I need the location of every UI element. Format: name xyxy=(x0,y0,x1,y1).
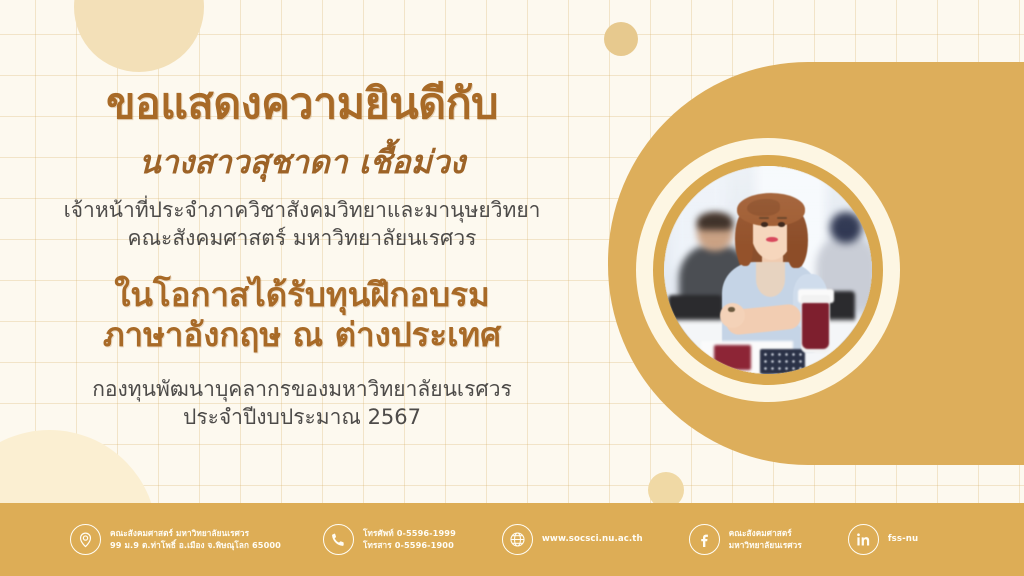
fund-line-1: กองทุนพัฒนาบุคลากรของมหาวิทยาลัยนเรศวร xyxy=(92,375,512,403)
footer-linkedin-text: fss-nu xyxy=(888,533,918,545)
award-line-1: ในโอกาสได้รับทุนฝึกอบรม xyxy=(103,275,501,315)
footer-phone-text: โทรศัพท์ 0-5596-1999 โทรสาร 0-5596-1900 xyxy=(363,528,456,552)
congratulations-banner: ขอแสดงความยินดีกับ นางสาวสุชาดา เชื้อม่ว… xyxy=(0,0,1024,576)
award-line-2: ภาษาอังกฤษ ณ ต่างประเทศ xyxy=(103,315,501,355)
footer-phone-line-1: โทรศัพท์ 0-5596-1999 xyxy=(363,528,456,538)
location-pin-icon xyxy=(70,524,101,555)
headline: ขอแสดงความยินดีกับ xyxy=(106,82,498,127)
footer-address-text: คณะสังคมศาสตร์ มหาวิทยาลัยนเรศวร 99 ม.9 … xyxy=(110,528,281,552)
message-block: ขอแสดงความยินดีกับ นางสาวสุชาดา เชื้อม่ว… xyxy=(0,0,604,503)
footer-address-line-2: 99 ม.9 ต.ท่าโพธิ์ อ.เมือง จ.พิษณุโลก 650… xyxy=(110,540,281,550)
footer-facebook-line-2: มหาวิทยาลัยนเรศวร xyxy=(729,540,802,550)
award-text: ในโอกาสได้รับทุนฝึกอบรม ภาษาอังกฤษ ณ ต่า… xyxy=(103,275,501,356)
footer-address: คณะสังคมศาสตร์ มหาวิทยาลัยนเรศวร 99 ม.9 … xyxy=(70,524,281,555)
phone-icon xyxy=(323,524,354,555)
fund-line-2: ประจำปีงบประมาณ 2567 xyxy=(92,403,512,431)
facebook-icon xyxy=(689,524,720,555)
footer-facebook-line-1: คณะสังคมศาสตร์ xyxy=(729,528,792,538)
footer-phone: โทรศัพท์ 0-5596-1999 โทรสาร 0-5596-1900 xyxy=(323,524,456,555)
footer-website[interactable]: www.socsci.nu.ac.th xyxy=(502,524,643,555)
linkedin-icon xyxy=(848,524,879,555)
honoree-role: เจ้าหน้าที่ประจำภาควิชาสังคมวิทยาและมานุ… xyxy=(64,196,541,252)
fund-text: กองทุนพัฒนาบุคลากรของมหาวิทยาลัยนเรศวร ป… xyxy=(92,375,512,432)
footer-facebook[interactable]: คณะสังคมศาสตร์ มหาวิทยาลัยนเรศวร xyxy=(689,524,802,555)
honoree-role-line-1: เจ้าหน้าที่ประจำภาควิชาสังคมวิทยาและมานุ… xyxy=(64,196,541,224)
honoree-name: นางสาวสุชาดา เชื้อม่วง xyxy=(139,145,466,180)
contact-footer: คณะสังคมศาสตร์ มหาวิทยาลัยนเรศวร 99 ม.9 … xyxy=(0,503,1024,576)
footer-address-line-1: คณะสังคมศาสตร์ มหาวิทยาลัยนเรศวร xyxy=(110,528,249,538)
honoree-role-line-2: คณะสังคมศาสตร์ มหาวิทยาลัยนเรศวร xyxy=(64,224,541,252)
globe-icon xyxy=(502,524,533,555)
footer-linkedin[interactable]: fss-nu xyxy=(848,524,918,555)
decorative-dot-upper xyxy=(604,22,638,56)
footer-phone-line-2: โทรสาร 0-5596-1900 xyxy=(363,540,454,550)
portrait-photo xyxy=(664,166,872,374)
photo-light-overlay xyxy=(664,166,872,374)
footer-facebook-text: คณะสังคมศาสตร์ มหาวิทยาลัยนเรศวร xyxy=(729,528,802,552)
footer-website-text: www.socsci.nu.ac.th xyxy=(542,533,643,545)
